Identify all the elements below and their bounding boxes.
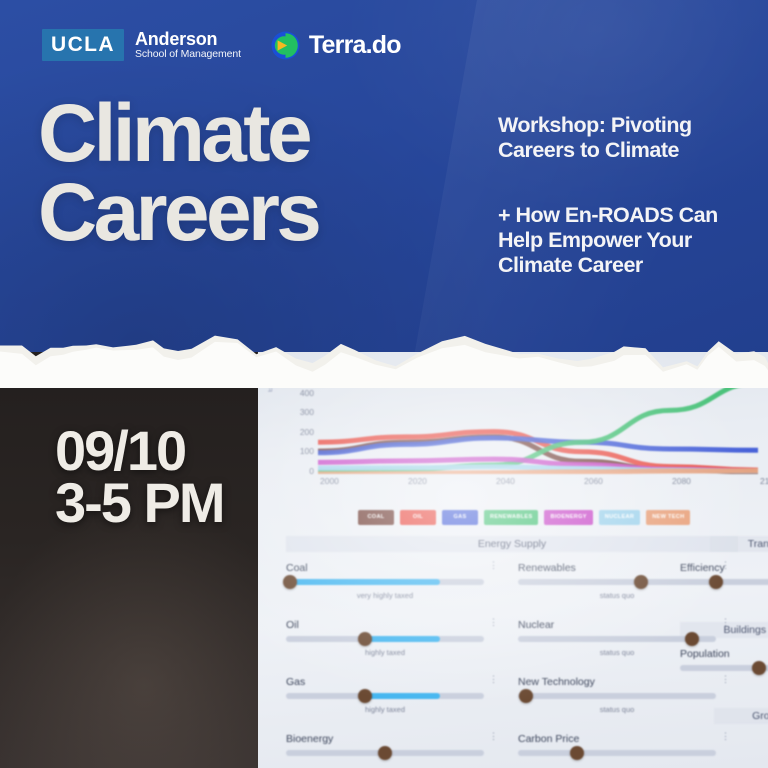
poster-canvas: UCLA Anderson School of Management Terra… [0,0,768,768]
projected-screen: Exajoule per year 5004003002001000 20002… [258,352,768,768]
anderson-line1: Anderson [135,30,241,49]
projector-glow [258,352,768,768]
enroads-description: + How En-ROADS Can Help Empower Your Cli… [498,203,748,278]
hero-banner: UCLA Anderson School of Management Terra… [0,0,768,362]
workshop-description: Workshop: Pivoting Careers to Climate [498,113,748,163]
terra-globe-icon [271,31,300,60]
event-date-block: 09/10 3-5 PM [55,425,224,528]
event-photo: Exajoule per year 5004003002001000 20002… [0,352,768,768]
logo-row: UCLA Anderson School of Management Terra… [42,29,401,61]
poster-title: Climate Careers [38,95,318,252]
title-line-1: Climate [38,95,318,174]
terra-do-logo: Terra.do [271,31,401,60]
anderson-wordmark: Anderson School of Management [135,30,241,60]
anderson-line2: School of Management [135,49,241,60]
ucla-wordmark: UCLA [42,29,124,61]
dark-room-light-falloff [0,352,262,768]
ucla-anderson-logo: UCLA Anderson School of Management [42,29,241,61]
terra-do-wordmark: Terra.do [309,31,401,60]
poster-subcopy: Workshop: Pivoting Careers to Climate + … [498,113,748,278]
title-line-2: Careers [38,174,318,253]
event-date: 09/10 [55,425,224,477]
event-time: 3-5 PM [55,477,224,529]
